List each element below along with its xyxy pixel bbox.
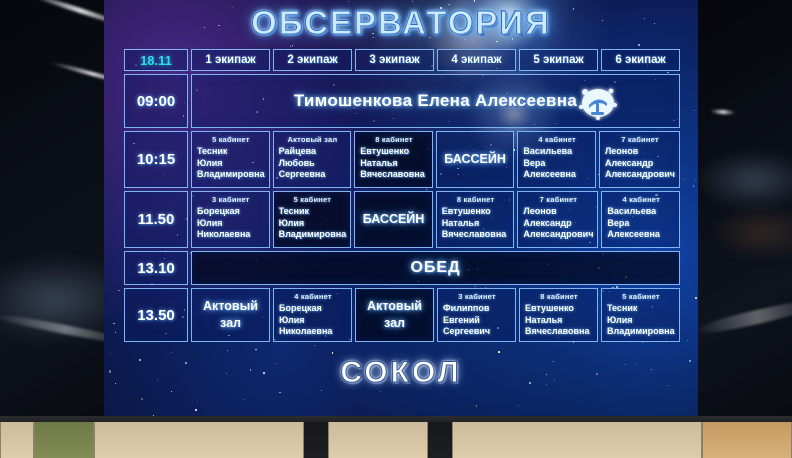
crew-header-label: 1 экипаж <box>205 54 255 66</box>
activity-cell[interactable]: 7 кабинетЛеоновАлександрАлександрович <box>517 191 598 248</box>
activity-cell[interactable]: Актовый залРайцеваЛюбовьСергеевна <box>273 131 352 188</box>
activity-cell[interactable]: 7 кабинетЛеоновАлександрАлександрович <box>599 131 680 188</box>
activity-cell[interactable]: 5 кабинетТесникЮлияВладимировна <box>601 288 680 342</box>
crew-header-label: 4 экипаж <box>451 54 501 66</box>
room-label: 5 кабинет <box>607 292 675 301</box>
teacher-name: ЛеоновАлександрАлександрович <box>605 146 675 181</box>
teacher-name: ЕвтушенкоНатальяВячеславовна <box>360 146 428 181</box>
room-label: 5 кабинет <box>279 195 347 204</box>
teacher-name: ТесникЮлияВладимировна <box>279 206 347 241</box>
wall-panel-green <box>34 422 94 458</box>
room-label: Актовый зал <box>279 135 347 144</box>
activity-cell[interactable]: 4 кабинетВасильеваВераАлексеевна <box>601 191 680 248</box>
time-cell: 13.50 <box>124 288 188 342</box>
time-cell: 09:00 <box>124 74 188 128</box>
wall-gap <box>428 422 452 458</box>
room-label: 8 кабинет <box>442 195 510 204</box>
room-label: 5 кабинет <box>197 135 265 144</box>
table-row: 11.503 кабинетБорецкаяЮлияНиколаевна5 ка… <box>124 191 680 248</box>
announcement-text: Тимошенкова Елена Алексеевна <box>294 91 577 111</box>
page-title: ОБСЕРВАТОРИЯ <box>104 4 698 42</box>
time-label: 11.50 <box>138 211 175 228</box>
observatory-emblem-icon <box>575 81 621 121</box>
wall-panel <box>452 422 702 458</box>
activity-label: БАССЕЙН <box>437 132 514 187</box>
activity-cell[interactable]: 4 кабинетБорецкаяЮлияНиколаевна <box>273 288 352 342</box>
announcement-text: ОБЕД <box>410 259 460 277</box>
time-label: 10:15 <box>137 151 175 168</box>
activity-cell[interactable]: 4 кабинетВасильеваВераАлексеевна <box>517 131 596 188</box>
room-label: 4 кабинет <box>607 195 675 204</box>
activity-label: Актовыйзал <box>356 289 433 341</box>
teacher-name: РайцеваЛюбовьСергеевна <box>279 146 347 181</box>
activity-cell[interactable]: 8 кабинетЕвтушенкоНатальяВячеславовна <box>436 191 515 248</box>
time-cell: 10:15 <box>124 131 188 188</box>
table-row: 13.10ОБЕД <box>124 251 680 285</box>
activity-cell[interactable]: 8 кабинетЕвтушенкоНатальяВячеславовна <box>354 131 433 188</box>
room-label: 3 кабинет <box>197 195 265 204</box>
teacher-name: ТесникЮлияВладимировна <box>197 146 265 181</box>
wall-panel-wood <box>702 422 792 458</box>
date-header: 18.11 <box>124 49 188 71</box>
activity-cell[interactable]: 8 кабинетЕвтушенкоНатальяВячеславовна <box>519 288 598 342</box>
room-label: 7 кабинет <box>605 135 675 144</box>
tv-bezel-right <box>698 0 792 424</box>
wall-panel <box>94 422 304 458</box>
room-label: 8 кабинет <box>360 135 428 144</box>
teacher-name: ЕвтушенкоНатальяВячеславовна <box>525 303 593 338</box>
room-label: 4 кабинет <box>279 292 347 301</box>
date-label: 18.11 <box>140 53 172 68</box>
activity-cell[interactable]: Актовыйзал <box>191 288 270 342</box>
lunch-cell[interactable]: ОБЕД <box>191 251 680 285</box>
teacher-name: ФилипповЕвгенийСергеевич <box>443 303 511 338</box>
room-label: 8 кабинет <box>525 292 593 301</box>
teacher-name: ЛеоновАлександрАлександрович <box>523 206 593 241</box>
crew-header-3[interactable]: 3 экипаж <box>355 49 434 71</box>
crew-header-6[interactable]: 6 экипаж <box>601 49 680 71</box>
activity-label: Актовыйзал <box>192 289 269 341</box>
room-label: 4 кабинет <box>523 135 591 144</box>
time-label: 13.10 <box>137 260 175 277</box>
teacher-name: ВасильеваВераАлексеевна <box>607 206 675 241</box>
time-label: 09:00 <box>137 93 175 110</box>
crew-header-4[interactable]: 4 экипаж <box>437 49 516 71</box>
teacher-name: БорецкаяЮлияНиколаевна <box>197 206 265 241</box>
teacher-name: БорецкаяЮлияНиколаевна <box>279 303 347 338</box>
crew-header-1[interactable]: 1 экипаж <box>191 49 270 71</box>
activity-cell[interactable]: 5 кабинетТесникЮлияВладимировна <box>273 191 352 248</box>
schedule-table: 18.111 экипаж2 экипаж3 экипаж4 экипаж5 э… <box>124 49 680 342</box>
table-header-row: 18.111 экипаж2 экипаж3 экипаж4 экипаж5 э… <box>124 49 680 71</box>
table-row: 09:00Тимошенкова Елена Алексеевна <box>124 74 680 128</box>
crew-header-label: 6 экипаж <box>615 54 665 66</box>
crew-header-2[interactable]: 2 экипаж <box>273 49 352 71</box>
photograph-of-display: ОБСЕРВАТОРИЯ 18.111 экипаж2 экипаж3 экип… <box>0 0 792 458</box>
activity-cell[interactable]: БАССЕЙН <box>354 191 433 248</box>
activity-cell[interactable]: Актовыйзал <box>355 288 434 342</box>
room-label: 7 кабинет <box>523 195 593 204</box>
teacher-name: ВасильеваВераАлексеевна <box>523 146 591 181</box>
time-label: 13.50 <box>137 307 175 324</box>
activity-label: БАССЕЙН <box>355 192 432 247</box>
activity-cell[interactable]: 5 кабинетТесникЮлияВладимировна <box>191 131 270 188</box>
activity-cell[interactable]: 3 кабинетФилипповЕвгенийСергеевич <box>437 288 516 342</box>
teacher-name: ТесникЮлияВладимировна <box>607 303 675 338</box>
table-row: 10:155 кабинетТесникЮлияВладимировнаАкто… <box>124 131 680 188</box>
time-cell: 13.10 <box>124 251 188 285</box>
teacher-name: ЕвтушенкоНатальяВячеславовна <box>442 206 510 241</box>
crew-header-label: 5 экипаж <box>533 54 583 66</box>
wall-gap <box>304 422 328 458</box>
activity-cell[interactable]: БАССЕЙН <box>436 131 515 188</box>
time-cell: 11.50 <box>124 191 188 248</box>
activity-cell[interactable]: 3 кабинетБорецкаяЮлияНиколаевна <box>191 191 270 248</box>
room-label: 3 кабинет <box>443 292 511 301</box>
wall-panel <box>0 422 34 458</box>
crew-header-label: 2 экипаж <box>287 54 337 66</box>
crew-header-5[interactable]: 5 экипаж <box>519 49 598 71</box>
announcement-cell[interactable]: Тимошенкова Елена Алексеевна <box>191 74 680 128</box>
table-row: 13.50Актовыйзал4 кабинетБорецкаяЮлияНико… <box>124 288 680 342</box>
tv-bezel-left <box>0 0 104 424</box>
wall-panel <box>328 422 428 458</box>
organization-name: СОКОЛ <box>104 356 698 390</box>
crew-header-label: 3 экипаж <box>369 54 419 66</box>
tv-screen: ОБСЕРВАТОРИЯ 18.111 экипаж2 экипаж3 экип… <box>104 0 698 424</box>
